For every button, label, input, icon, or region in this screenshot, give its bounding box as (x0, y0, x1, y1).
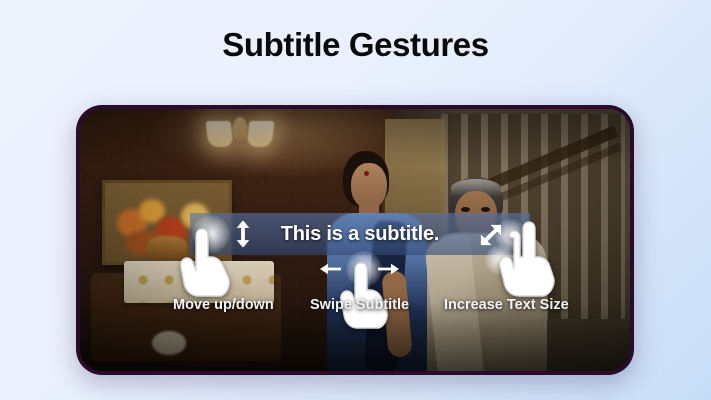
gesture-label-increase-text-size: Increase Text Size (444, 297, 569, 313)
subtitle-text: This is a subtitle. (281, 223, 439, 246)
page-title: Subtitle Gestures (0, 26, 711, 64)
hand-pinch-icon (494, 221, 556, 297)
gesture-label-swipe-subtitle: Swipe Subtitle (310, 297, 409, 313)
promo-screenshot: Subtitle Gestures (0, 0, 711, 400)
hand-pointer-icon (338, 261, 392, 329)
phone-device-frame: This is a subtitle. (76, 105, 634, 375)
double-arrow-vertical-icon (235, 221, 251, 247)
video-player-screen[interactable]: This is a subtitle. (80, 109, 630, 371)
gesture-label-move-up-down: Move up/down (173, 297, 274, 313)
hand-pointer-icon (178, 227, 234, 297)
